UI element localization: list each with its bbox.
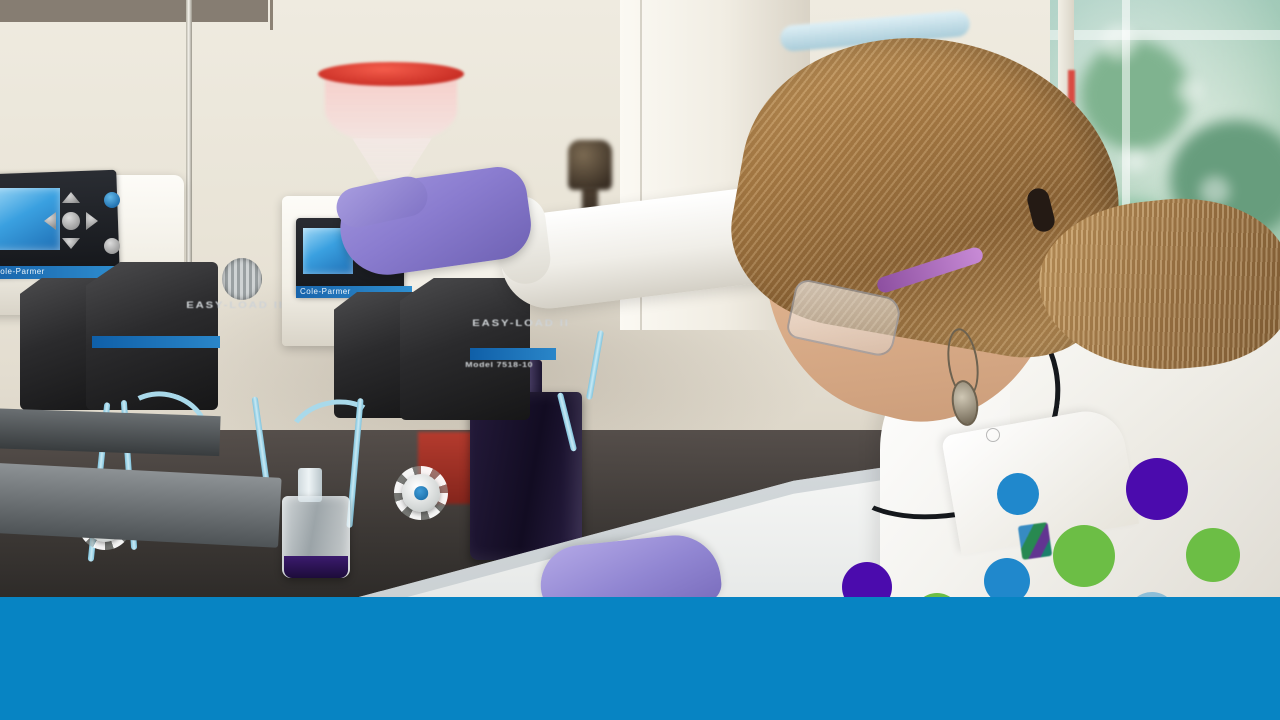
foliage-bokeh-2	[1176, 78, 1202, 104]
lab-coat-badge-icon	[1018, 522, 1052, 560]
clamp-wheel-right[interactable]	[402, 474, 440, 512]
dot-green-far-right	[1186, 528, 1240, 582]
wall-top-panel	[0, 0, 268, 22]
sample-bottle-liquid	[284, 556, 348, 578]
bench-rack-lower	[0, 462, 282, 548]
pump-right-blue-stripe	[470, 348, 556, 360]
dot-purple-large	[1126, 458, 1188, 520]
stand-rod	[186, 0, 192, 270]
title-band: DbD Therapeutic Proteins Example: Uricas…	[0, 597, 1280, 720]
dot-blue-upper	[997, 473, 1039, 515]
bench-rack-upper	[0, 408, 221, 456]
lab-coat-button	[986, 428, 1000, 442]
slide-root: Cole-Parmer EASY-LOAD II Cole-Parmer EAS…	[0, 0, 1280, 720]
pump-left-head-label: EASY-LOAD II	[186, 300, 284, 310]
pump-left-tension-knob[interactable]	[222, 258, 262, 300]
pump-right-model-label: Model 7518-10	[465, 362, 533, 369]
pump-right-head-label: EASY-LOAD II	[472, 318, 570, 328]
pump-left-start-stop-button[interactable]	[104, 192, 120, 208]
hero-photo: Cole-Parmer EASY-LOAD II Cole-Parmer EAS…	[0, 0, 1280, 600]
funnel-red-cap	[318, 62, 464, 86]
dot-green-right	[1053, 525, 1115, 587]
background-bottle	[568, 140, 612, 190]
pump-left-blue-stripe	[92, 336, 220, 348]
window-sill	[1050, 30, 1280, 40]
pump-left-enter-button[interactable]	[62, 212, 80, 230]
pump-left-fast-forward-button[interactable]	[104, 238, 120, 254]
wall-seam	[270, 0, 273, 30]
